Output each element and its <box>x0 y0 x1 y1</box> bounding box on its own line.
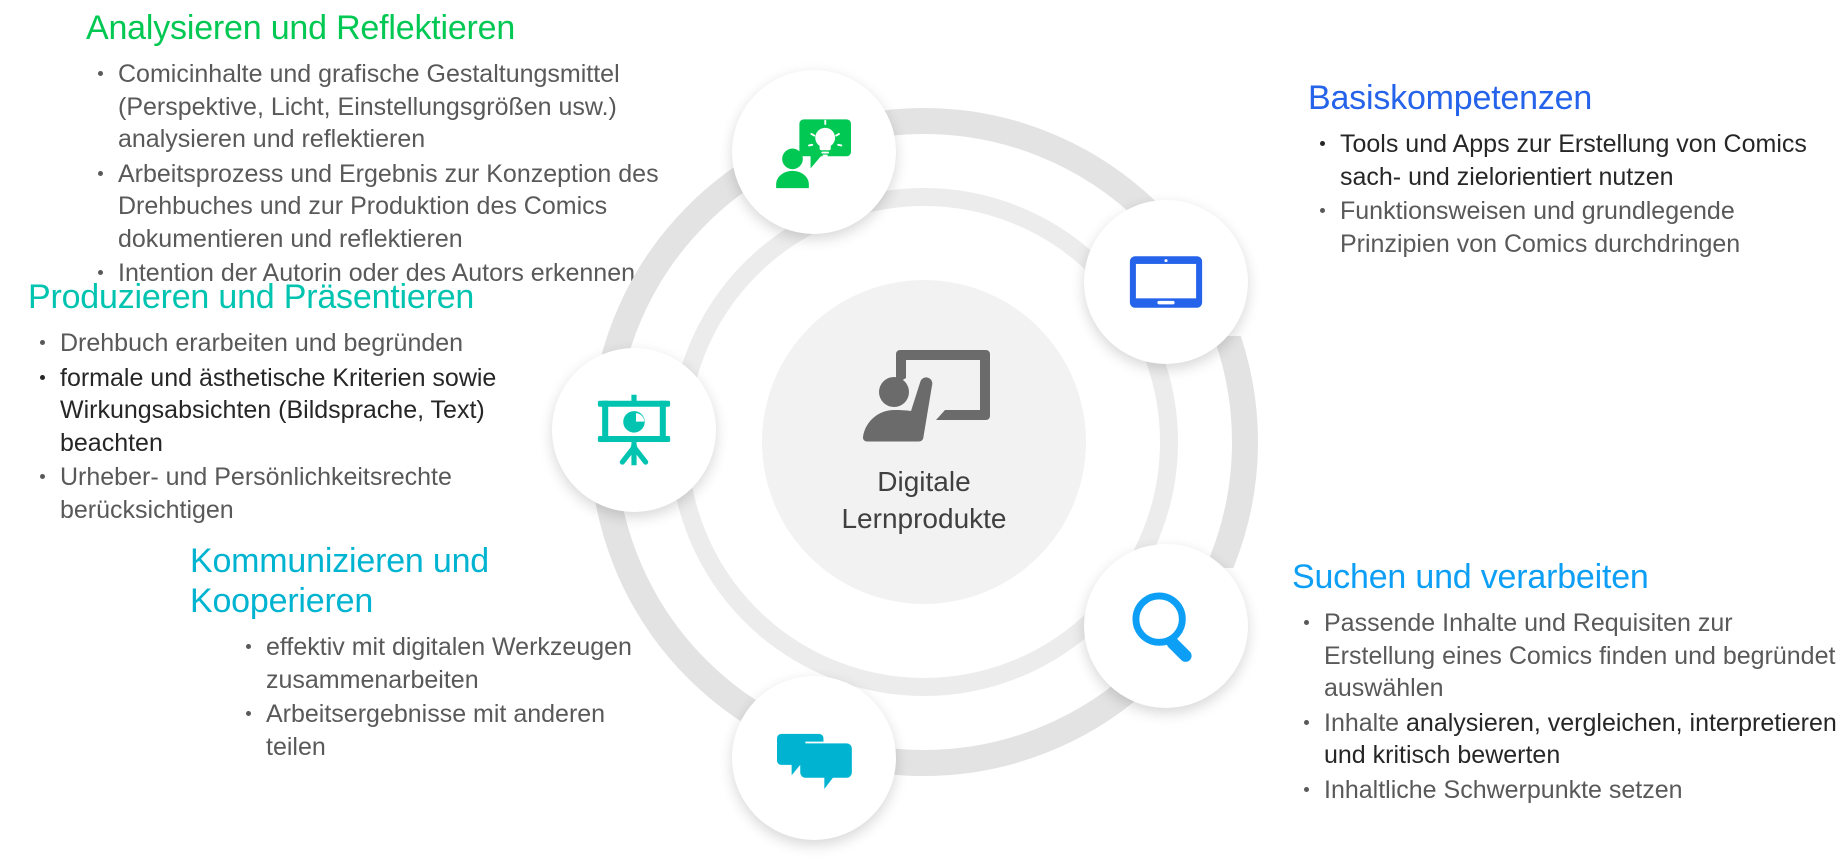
list-item: Drehbuch erarbeiten und begründen <box>28 327 508 360</box>
section-suchen-und-verarbeiten: Suchen und verarbeiten Passende Inhalte … <box>1292 557 1840 808</box>
list-item: formale und ästhetische Kriterien sowie … <box>28 362 508 460</box>
node-analysieren-icon-circle[interactable] <box>732 70 896 234</box>
section-produzieren-und-praesentieren: Produzieren und Präsentieren Drehbuch er… <box>28 277 508 528</box>
node-suchen-icon-circle[interactable] <box>1084 544 1248 708</box>
infographic-canvas: Analysieren und Reflektieren Comicinhalt… <box>0 0 1846 859</box>
section-title-analysieren: Analysieren und Reflektieren <box>86 8 706 48</box>
presentation-piechart-easel-icon <box>591 387 677 473</box>
list-item-lead: Inhalte <box>1324 709 1406 737</box>
section-title-kommunizieren: Kommunizieren und Kooperieren <box>190 541 490 621</box>
chat-bubbles-icon <box>771 715 857 801</box>
list-item: Urheber- und Persönlichkeitsrechte berüc… <box>28 461 508 526</box>
hub-label: Digitale Lernprodukte <box>841 464 1006 538</box>
list-item: Tools und Apps zur Erstellung von Comics… <box>1308 128 1838 193</box>
hub-digitale-lernprodukte: Digitale Lernprodukte <box>762 280 1086 604</box>
person-lightbulb-speech-bubble-icon <box>771 109 857 195</box>
circular-diagram: Digitale Lernprodukte <box>530 48 1320 838</box>
node-kommunizieren-icon-circle[interactable] <box>732 676 896 840</box>
section-title-basiskompetenzen: Basiskompetenzen <box>1308 78 1838 118</box>
bullet-list-basiskompetenzen: Tools und Apps zur Erstellung von Comics… <box>1308 128 1838 260</box>
node-basiskompetenzen-icon-circle[interactable] <box>1084 200 1248 364</box>
list-item: Funktionsweisen und grundlegende Prinzip… <box>1308 195 1838 260</box>
list-item: Inhalte analysieren, vergleichen, interp… <box>1292 707 1840 772</box>
section-basiskompetenzen: Basiskompetenzen Tools und Apps zur Erst… <box>1308 78 1838 262</box>
bullet-list-suchen: Passende Inhalte und Requisiten zur Erst… <box>1292 607 1840 806</box>
presenter-whiteboard-icon <box>858 346 990 450</box>
bullet-list-produzieren: Drehbuch erarbeiten und begründen formal… <box>28 327 508 526</box>
tablet-monitor-icon <box>1123 239 1209 325</box>
list-item: Inhaltliche Schwerpunkte setzen <box>1292 774 1840 807</box>
section-title-produzieren: Produzieren und Präsentieren <box>28 277 508 317</box>
list-item: Passende Inhalte und Requisiten zur Erst… <box>1292 607 1840 705</box>
section-title-suchen: Suchen und verarbeiten <box>1292 557 1840 597</box>
magnifier-search-icon <box>1123 583 1209 669</box>
node-produzieren-icon-circle[interactable] <box>552 348 716 512</box>
